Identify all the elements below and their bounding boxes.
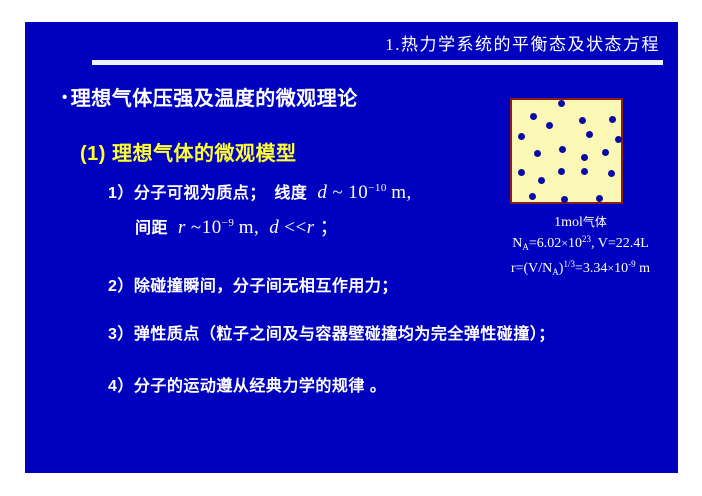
gas-molecule-dot: [608, 170, 615, 177]
multiply-icon-1: ×: [561, 236, 568, 250]
list-item-1-line-2: 间距r~10−9 m,d<<r；: [135, 212, 339, 239]
avogadro-exponent: 23: [582, 234, 591, 244]
caption-gas-label: 气体: [583, 215, 607, 229]
list-item-3: 3）弹性质点（粒子之间及与容器壁碰撞均为完全弹性碰撞）；: [108, 320, 555, 344]
avogadro-value: 6.02: [537, 236, 562, 251]
gas-molecule-dot: [615, 136, 622, 143]
gas-molecule-dot: [581, 154, 588, 161]
bullet-dot-icon: •: [62, 89, 68, 106]
list-item-2-text: 除碰撞瞬间，分子间无相互作用力；: [134, 278, 398, 295]
list-item-1-label: 1）: [108, 185, 134, 202]
gas-molecule-dot: [609, 116, 616, 123]
gas-molecule-dot: [559, 146, 566, 153]
gas-molecule-dot: [561, 196, 568, 203]
r-exponent: -9: [628, 259, 636, 269]
gas-molecule-dot: [518, 169, 525, 176]
gas-molecule-dot: [538, 177, 545, 184]
multiply-icon-2: ×: [607, 261, 614, 275]
gas-molecule-dot: [530, 113, 537, 120]
caption-line-1: 1mol气体: [468, 214, 693, 231]
slide-canvas: 1.热力学系统的平衡态及状态方程 •理想气体压强及温度的微观理论 (1) 理想气…: [25, 22, 678, 473]
gas-molecule-dot: [602, 149, 609, 156]
gas-molecule-dot: [581, 168, 588, 175]
r-result-value: 3.34: [583, 261, 608, 276]
main-bullet-text: 理想气体压强及温度的微观理论: [71, 88, 358, 110]
math-approx-2: ~: [191, 217, 202, 238]
main-bullet-line: •理想气体压强及温度的微观理论: [62, 82, 358, 111]
r-unit: m: [639, 261, 650, 276]
volume-label: V=22.4L: [598, 236, 649, 251]
gas-molecule-dot: [558, 168, 565, 175]
gas-molecule-dot: [596, 195, 603, 202]
caption-line-2: NA=6.02×1023, V=22.4L: [468, 231, 693, 256]
math-symbol-d2: d: [269, 217, 279, 238]
gas-molecule-dot: [558, 100, 565, 107]
math-approx-1: ~: [332, 182, 343, 203]
list-item-3-text: 弹性质点（粒子之间及与容器壁碰撞均为完全弹性碰撞）；: [134, 326, 555, 343]
caption-line-3: r=(V/NA)1/3=3.34×10-9 m: [468, 256, 693, 281]
math-symbol-r: r: [178, 217, 186, 238]
list-item-1-line-1: 1）分子可视为质点； 线度d~10−10 m,: [108, 179, 412, 204]
gas-molecule-dot: [534, 150, 541, 157]
math-order-1e-9: 10−9 m,: [202, 217, 260, 238]
gas-molecule-dot: [529, 193, 536, 200]
math-symbol-r2: r: [307, 217, 315, 238]
gas-molecule-dot: [546, 122, 553, 129]
avogadro-subscript: A: [522, 242, 529, 252]
avogadro-subscript-2: A: [552, 267, 559, 277]
list-item-1-cont-text: 间距: [135, 220, 168, 237]
list-item-2-label: 2）: [108, 278, 134, 295]
math-symbol-d: d: [317, 182, 327, 203]
figure-caption: 1mol气体 NA=6.02×1023, V=22.4L r=(V/NA)1/3…: [468, 214, 693, 281]
list-item-3-label: 3）: [108, 326, 134, 343]
gas-molecule-dot: [586, 131, 593, 138]
slide-title: 1.热力学系统的平衡态及状态方程: [385, 30, 660, 55]
ideal-gas-container-box: [510, 98, 623, 204]
title-underline-rule: [92, 60, 663, 65]
list-item-1-text: 分子可视为质点； 线度: [134, 185, 308, 202]
list-item-4: 4）分子的运动遵从经典力学的规律 。: [108, 372, 386, 396]
sub-heading: (1) 理想气体的微观模型: [80, 137, 297, 166]
slide-root: 1.热力学系统的平衡态及状态方程 •理想气体压强及温度的微观理论 (1) 理想气…: [0, 0, 702, 496]
list-item-4-text: 分子的运动遵从经典力学的规律 。: [134, 378, 386, 395]
list-item-4-label: 4）: [108, 378, 134, 395]
gas-molecule-dot: [518, 133, 525, 140]
math-much-less-than: <<: [284, 217, 306, 238]
list-item-2: 2）除碰撞瞬间，分子间无相互作用力；: [108, 272, 398, 296]
caption-mole-amount: 1mol: [554, 215, 583, 230]
avogadro-symbol: N: [512, 236, 522, 251]
gas-molecule-dot: [579, 117, 586, 124]
math-order-1e-10: 10−10 m,: [348, 182, 412, 203]
cube-root-exponent: 1/3: [563, 259, 575, 269]
math-semicolon: ；: [320, 217, 340, 238]
